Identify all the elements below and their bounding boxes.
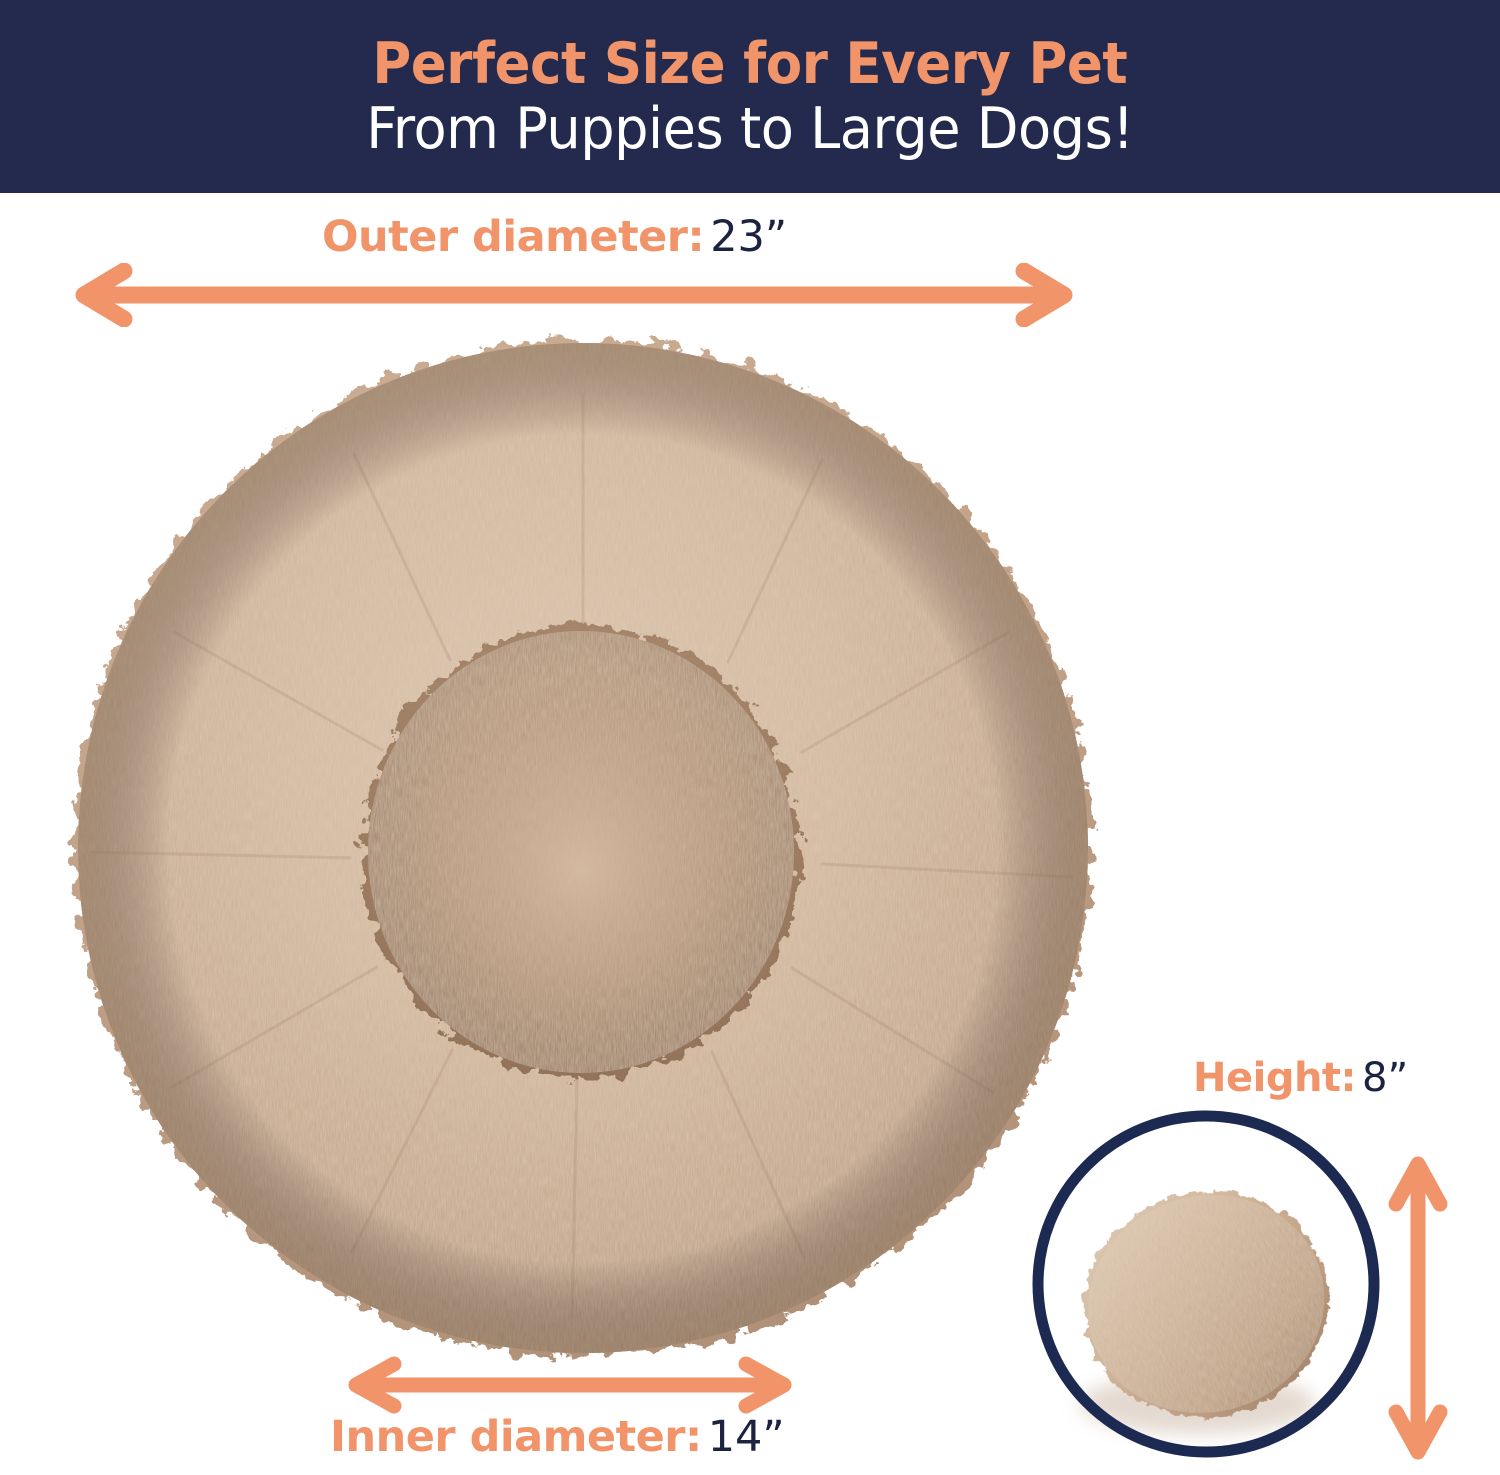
outer-diameter-arrow-icon (68, 263, 1080, 327)
bed-inner-cushion (362, 625, 800, 1079)
inner-diameter-value: 14” (708, 1412, 785, 1462)
height-value: 8” (1362, 1055, 1408, 1101)
banner-subtitle: From Puppies to Large Dogs! (366, 101, 1133, 158)
height-arrow-icon (1386, 1152, 1450, 1464)
outer-diameter-value: 23” (710, 212, 787, 262)
outer-diameter-label-text: Outer diameter: (322, 212, 704, 262)
inner-diameter-label-text: Inner diameter: (330, 1412, 702, 1462)
header-banner: Perfect Size for Every Pet From Puppies … (0, 0, 1500, 193)
banner-title: Perfect Size for Every Pet (373, 36, 1128, 93)
inner-diameter-arrow-icon (342, 1356, 798, 1414)
height-label-text: Height: (1193, 1055, 1356, 1101)
pet-bed-top-view (62, 332, 1104, 1364)
inner-diameter-label: Inner diameter:14” (330, 1416, 785, 1459)
pet-bed-side-view-inset (1030, 1108, 1382, 1460)
outer-diameter-label: Outer diameter:23” (322, 216, 787, 259)
height-label: Height:8” (1193, 1058, 1408, 1098)
